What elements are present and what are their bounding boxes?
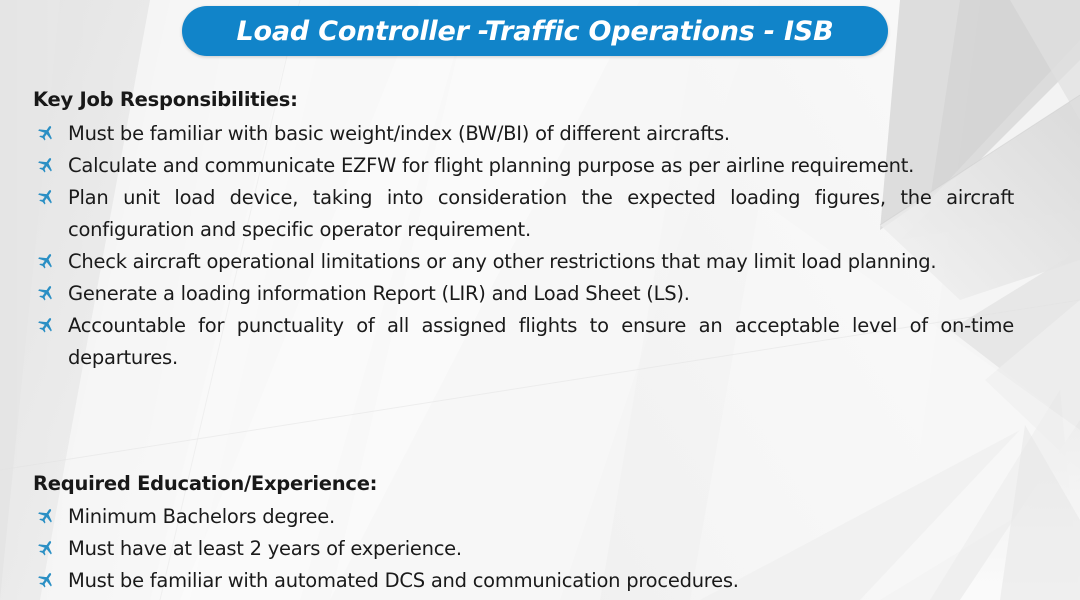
bullet-text: Check aircraft operational limitations o…	[68, 246, 1014, 278]
bullet-list-2: Minimum Bachelors degree.Must have at le…	[33, 501, 1014, 597]
bullet-item: Plan unit load device, taking into consi…	[33, 182, 1014, 246]
bullet-text: Must have at least 2 years of experience…	[68, 533, 1014, 565]
airplane-icon	[36, 155, 56, 175]
section-heading-2: Required Education/Experience:	[33, 472, 377, 495]
bullet-item: Must be familiar with basic weight/index…	[33, 118, 1014, 150]
bullet-item: Check aircraft operational limitations o…	[33, 246, 1014, 278]
airplane-icon	[36, 315, 56, 335]
bullet-text: Must be familiar with automated DCS and …	[68, 565, 1014, 597]
bullet-item: Must have at least 2 years of experience…	[33, 533, 1014, 565]
bullet-text: Generate a loading information Report (L…	[68, 278, 1014, 310]
slide-canvas: Load Controller -Traffic Operations - IS…	[0, 0, 1080, 600]
bullet-item: Generate a loading information Report (L…	[33, 278, 1014, 310]
airplane-icon	[36, 251, 56, 271]
bullet-text: Minimum Bachelors degree.	[68, 501, 1014, 533]
airplane-icon	[36, 570, 56, 590]
section-heading-1: Key Job Responsibilities:	[33, 88, 298, 111]
bullet-item: Must be familiar with automated DCS and …	[33, 565, 1014, 597]
bullet-item: Accountable for punctuality of all assig…	[33, 310, 1014, 374]
bullet-text: Accountable for punctuality of all assig…	[68, 310, 1014, 374]
bullet-item: Calculate and communicate EZFW for fligh…	[33, 150, 1014, 182]
airplane-icon	[36, 538, 56, 558]
airplane-icon	[36, 123, 56, 143]
bullet-item: Minimum Bachelors degree.	[33, 501, 1014, 533]
bullet-list-1: Must be familiar with basic weight/index…	[33, 118, 1014, 374]
airplane-icon	[36, 283, 56, 303]
airplane-icon	[36, 187, 56, 207]
bullet-text: Must be familiar with basic weight/index…	[68, 118, 1014, 150]
slide-content: Key Job Responsibilities:Must be familia…	[0, 0, 1080, 600]
airplane-icon	[36, 506, 56, 526]
bullet-text: Plan unit load device, taking into consi…	[68, 182, 1014, 246]
bullet-text: Calculate and communicate EZFW for fligh…	[68, 150, 1014, 182]
